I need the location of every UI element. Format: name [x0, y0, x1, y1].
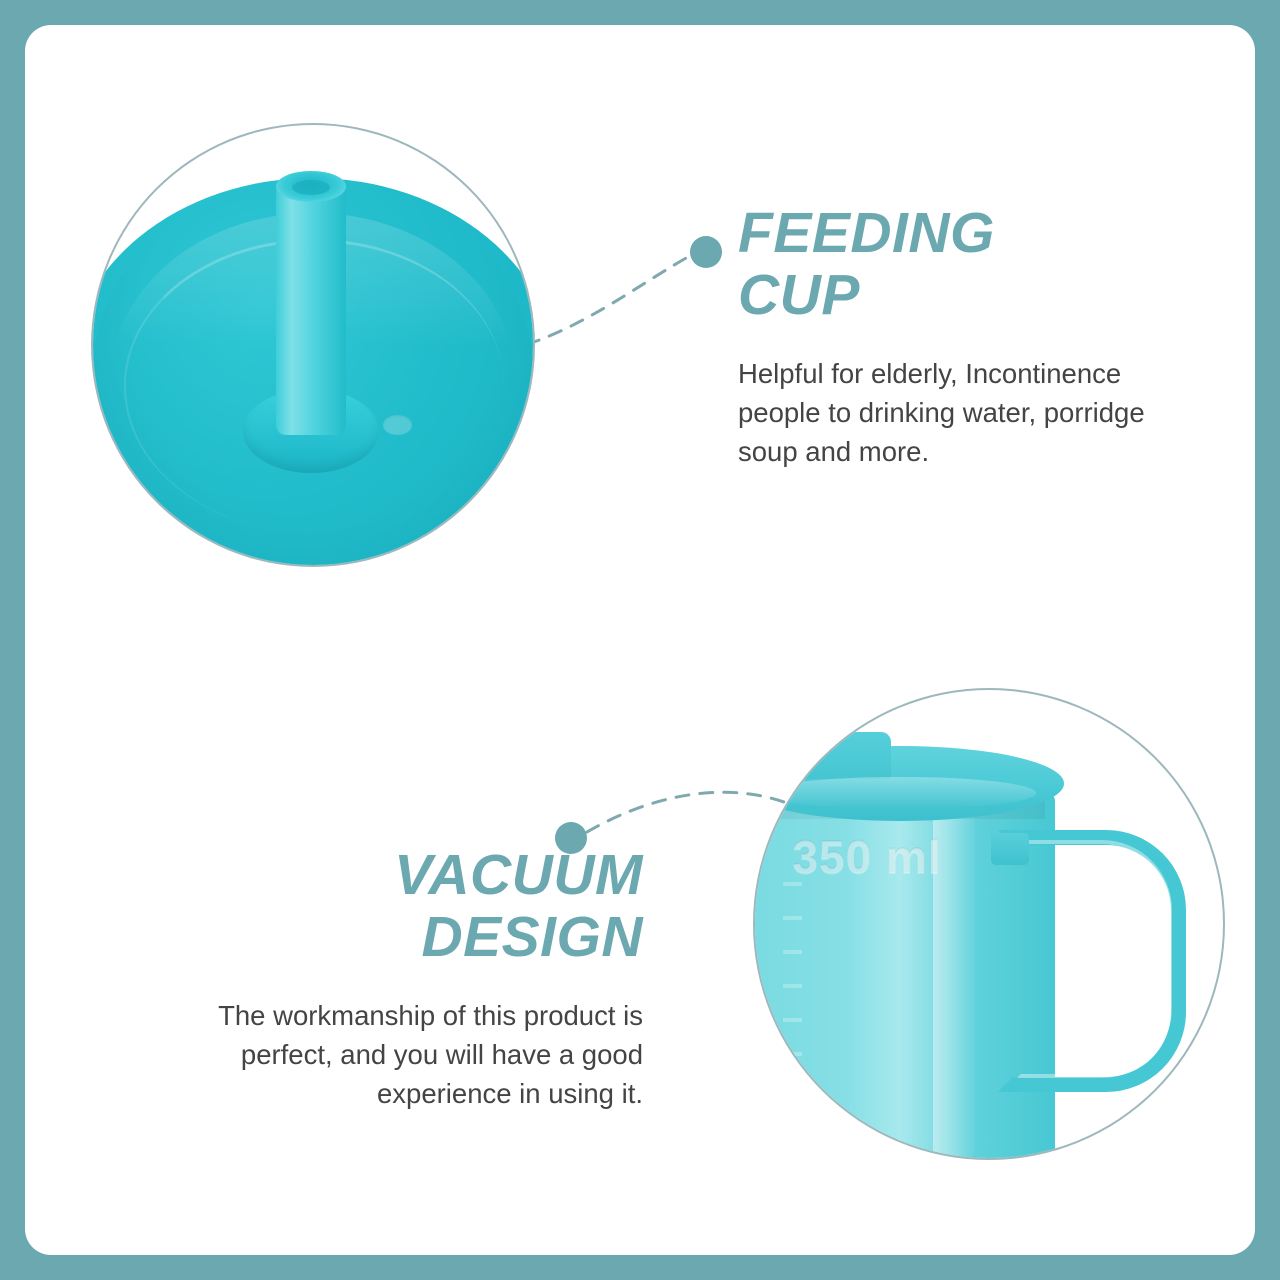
- cup-lid-seam: [764, 777, 1035, 810]
- feature-image-vacuum-design: 350 ml: [755, 690, 1223, 1158]
- spout-tube: [276, 180, 346, 435]
- cup-measure-ticks: [783, 882, 802, 1088]
- feature-text-feeding-cup: FEEDING CUP Helpful for elderly, Inconti…: [738, 203, 1208, 471]
- cup-lid-flap: [797, 732, 891, 779]
- feature-text-vacuum-design: VACUUM DESIGN The workmanship of this pr…: [153, 845, 643, 1113]
- lid-illustration: [93, 125, 533, 565]
- cup-volume-label: 350 ml: [792, 830, 941, 884]
- connector-dot-feeding: [690, 236, 722, 268]
- infographic-page: 350 ml FEEDING CUP Helpful for elderly, …: [0, 0, 1280, 1280]
- headline-line-2: DESIGN: [421, 905, 643, 969]
- headline-line-1: FEEDING: [738, 201, 995, 265]
- cup-illustration: 350 ml: [755, 690, 1223, 1158]
- lid-vent-hole: [383, 415, 412, 434]
- inner-canvas: 350 ml FEEDING CUP Helpful for elderly, …: [25, 25, 1255, 1255]
- headline-line-1: VACUUM: [394, 843, 643, 907]
- feature-body-feeding-cup: Helpful for elderly, Incontinence people…: [738, 354, 1208, 471]
- feature-body-vacuum-design: The workmanship of this product is perfe…: [153, 996, 643, 1113]
- cup-handle-joint: [991, 833, 1028, 866]
- spout-opening: [292, 180, 330, 195]
- headline-line-2: CUP: [738, 263, 860, 327]
- feature-headline-feeding-cup: FEEDING CUP: [738, 203, 1208, 326]
- feature-image-feeding-cup: [93, 125, 533, 565]
- cup-handle-highlight: [1017, 840, 1171, 1079]
- feature-headline-vacuum-design: VACUUM DESIGN: [153, 845, 643, 968]
